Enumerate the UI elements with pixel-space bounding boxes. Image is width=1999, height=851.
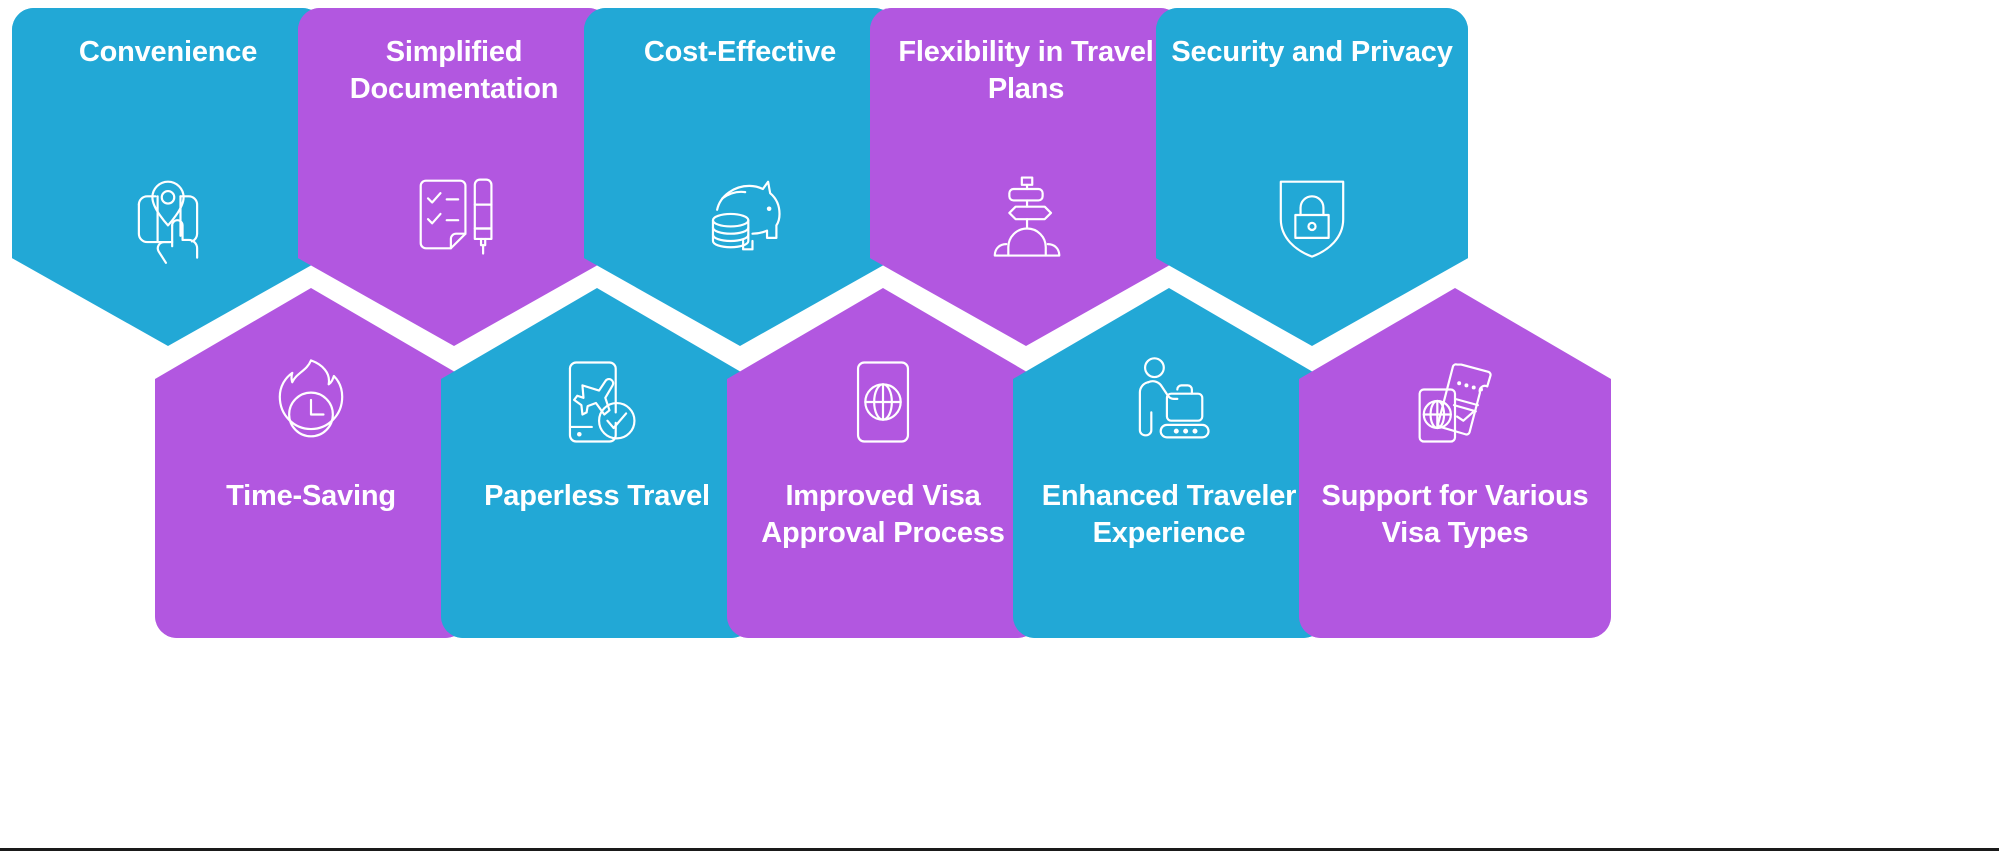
bottom-card-improved-visa-approval-process[interactable]: Improved Visa Approval Process bbox=[727, 288, 1039, 638]
card-foot bbox=[727, 528, 1039, 638]
bottom-card-label: Time-Saving bbox=[155, 478, 467, 515]
bottom-row: Time-Saving Paperless Travel bbox=[0, 288, 1999, 640]
infographic-canvas: Convenience Simplified Docume bbox=[0, 0, 1999, 851]
card-foot bbox=[1013, 528, 1325, 638]
clock-flame-icon bbox=[259, 350, 363, 454]
map-location-tap-icon bbox=[116, 163, 220, 267]
signpost-hill-icon bbox=[974, 163, 1078, 267]
passport-tickets-icon bbox=[1403, 350, 1507, 454]
bottom-card-support-for-various-visa-types[interactable]: Support for Various Visa Types bbox=[1299, 288, 1611, 638]
passport-globe-icon bbox=[831, 350, 935, 454]
card-cap bbox=[298, 8, 610, 118]
card-foot bbox=[155, 528, 467, 638]
piggy-bank-coins-icon bbox=[688, 163, 792, 267]
card-cap bbox=[12, 8, 324, 118]
mobile-boarding-pass-icon bbox=[545, 350, 649, 454]
card-cap bbox=[1156, 8, 1468, 118]
card-cap bbox=[584, 8, 896, 118]
bottom-card-enhanced-traveler-experience[interactable]: Enhanced Traveler Experience bbox=[1013, 288, 1325, 638]
bottom-card-time-saving[interactable]: Time-Saving bbox=[155, 288, 467, 638]
bottom-card-paperless-travel[interactable]: Paperless Travel bbox=[441, 288, 753, 638]
bottom-card-label: Paperless Travel bbox=[441, 478, 753, 515]
card-cap bbox=[870, 8, 1182, 118]
checklist-pen-icon bbox=[402, 163, 506, 267]
shield-lock-icon bbox=[1260, 163, 1364, 267]
card-foot bbox=[1299, 528, 1611, 638]
card-foot bbox=[441, 528, 753, 638]
traveler-luggage-belt-icon bbox=[1117, 350, 1221, 454]
